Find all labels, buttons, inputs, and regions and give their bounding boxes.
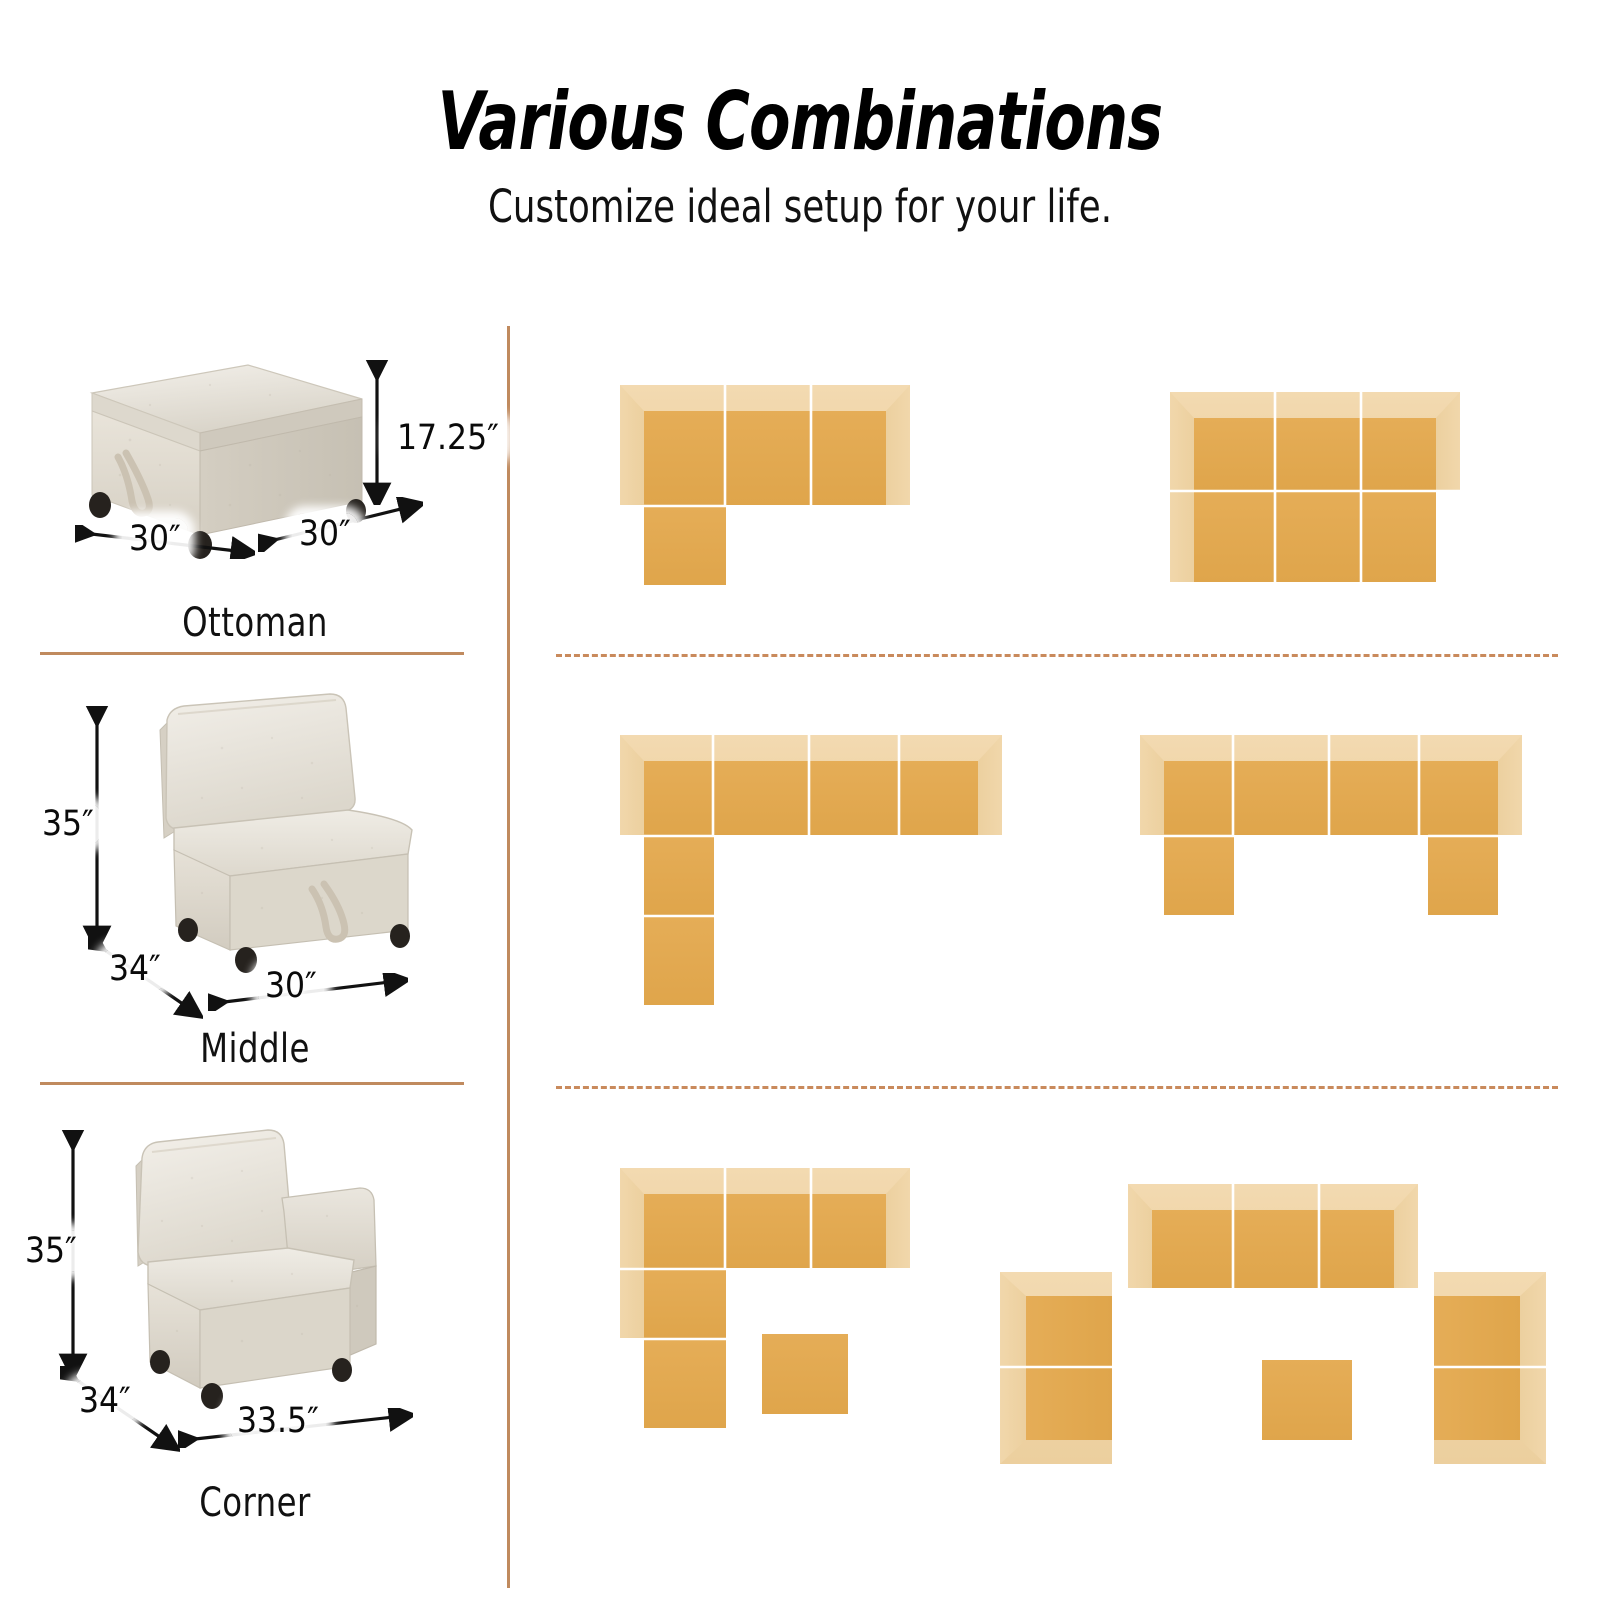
module-corner: 35″ 34″ 33.5″ Corner [40,1108,470,1528]
ottoman-label: Ottoman [62,600,449,646]
ottoman-dim-depth: 30″ [292,513,358,555]
middle-dim-depth: 34″ [102,948,168,990]
ottoman-dim-width: 30″ [122,518,188,560]
header: Various Combinations Customize ideal set… [0,82,1600,229]
divider-under-middle [40,1082,464,1085]
dashed-divider-row-1 [556,654,1558,657]
corner-dim-width: 33.5″ [230,1400,326,1442]
page-subtitle: Customize ideal setup for your life. [96,184,1504,229]
infographic-page: Various Combinations Customize ideal set… [0,0,1600,1600]
config-l-shape-3-plus-1 [620,385,910,585]
config-l-shape-3-plus-2-ottoman [620,1168,910,1438]
module-ottoman: 17.25″ 30″ 30″ Ottoman [40,355,470,655]
corner-label: Corner [62,1480,449,1526]
ottoman-height-arrow [362,360,392,505]
page-title: Various Combinations [128,82,1472,162]
middle-label: Middle [62,1026,449,1072]
corner-dim-height: 35″ [18,1230,84,1272]
right-loveseat [1434,1272,1546,1464]
config-u-shape-4-plus-2-ends [1140,735,1522,915]
center-sofa [1128,1184,1418,1288]
ottoman-dim-height: 17.25″ [390,417,506,459]
left-loveseat [1000,1272,1112,1464]
dashed-divider-row-2 [556,1086,1558,1089]
config-rectangle-3-by-2 [1170,392,1460,582]
center-ottoman [1262,1360,1352,1440]
corner-dim-depth: 34″ [72,1380,138,1422]
module-middle: 35″ 34″ 30″ Middle [40,678,470,1068]
middle-dim-width: 30″ [258,965,324,1007]
config-l-shape-4-plus-2 [620,735,1002,1005]
middle-dim-height: 35″ [35,803,101,845]
vertical-divider [507,326,510,1588]
